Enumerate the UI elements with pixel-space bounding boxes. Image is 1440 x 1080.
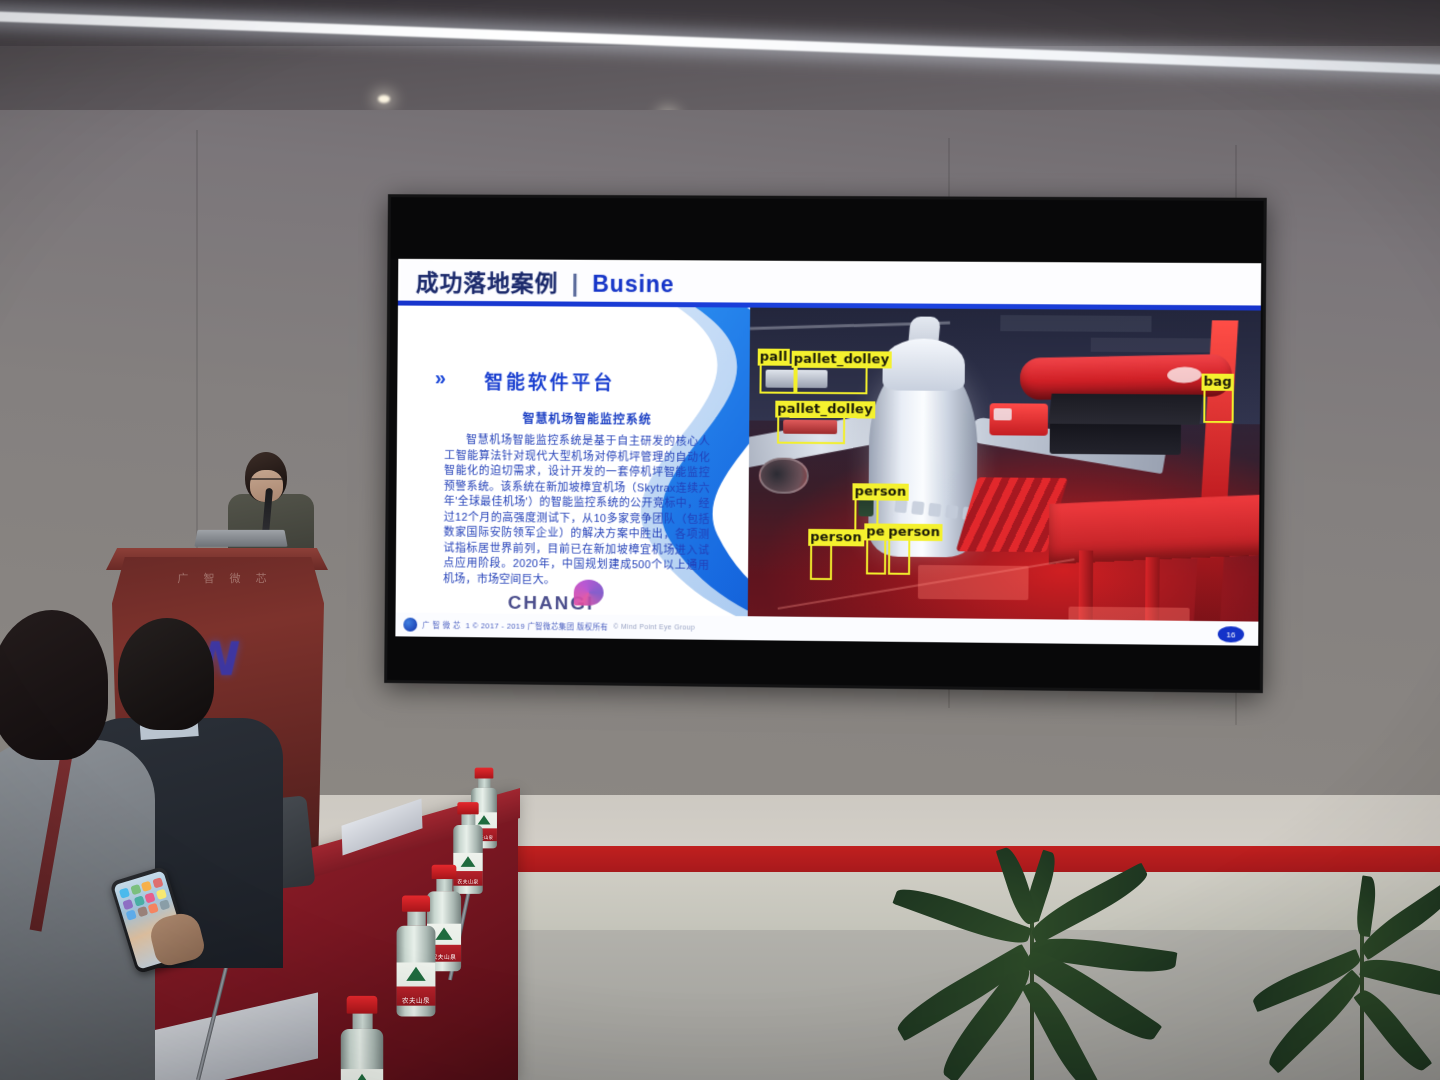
mountain-icon <box>351 1074 372 1080</box>
bottle-brand-cn: 农夫山泉 <box>397 995 436 1005</box>
footer-copyright-cn: 1 © 2017 - 2019 广智微芯集团 版权所有 <box>466 620 609 632</box>
surveillance-photo: pall pallet_dolley pallet_dolley bag per… <box>748 308 1261 646</box>
detection-box <box>759 364 797 394</box>
potted-palm <box>1250 900 1440 1080</box>
potted-palm <box>880 870 1200 1080</box>
bottle-neck <box>478 778 490 787</box>
bottle-cap <box>475 768 494 779</box>
bottle-cap <box>432 865 457 879</box>
attendee-front-left-head <box>0 610 108 760</box>
bottle-neck <box>436 879 452 891</box>
laptop[interactable] <box>194 530 287 547</box>
footer-copyright-en: © Mind Point Eye Group <box>613 623 695 631</box>
bottle-body: 农夫山泉 <box>397 926 436 1017</box>
slide-title-en: Busine <box>592 271 674 297</box>
changi-swoosh-icon <box>574 580 604 606</box>
detection-box <box>793 366 867 395</box>
detection-label: bag <box>1201 374 1233 391</box>
detection-label: pe <box>864 523 887 540</box>
aircraft-nose <box>882 338 965 391</box>
slide-body-text: 智慧机场智能监控系统是基于自主研发的核心人工智能算法针对现代大型机场对停机坪管理… <box>443 433 710 590</box>
detection-box <box>888 539 910 575</box>
bottle-cap <box>402 896 430 912</box>
apron-marking <box>1091 338 1212 353</box>
ground-equipment <box>918 565 1029 600</box>
sub-heading: 智慧机场智能监控系统 <box>478 409 696 428</box>
conference-room-scene: 成功落地案例 | Busine <box>0 0 1440 1080</box>
water-bottle[interactable]: 农夫山泉 <box>397 896 436 1017</box>
bottle-neck <box>407 912 425 926</box>
slide-title-cn: 成功落地案例 <box>416 270 559 297</box>
attendee-second-head <box>118 618 214 730</box>
jet-bridge-support <box>1048 394 1203 425</box>
detection-box <box>866 538 886 574</box>
ground-vehicle <box>1050 422 1181 455</box>
bottle-neck <box>461 814 475 825</box>
slide-body: » 智能软件平台 智慧机场智能监控系统 智慧机场智能监控系统是基于自主研发的核心… <box>395 306 1260 646</box>
chevron-double-right-icon: » <box>435 367 446 390</box>
mountain-icon <box>406 967 425 981</box>
mountain-icon <box>461 856 476 867</box>
detection-label: person <box>853 483 909 500</box>
bottle-body: 农夫山泉 <box>341 1029 383 1080</box>
slide-title-band: 成功落地案例 | Busine <box>400 261 1261 306</box>
aircraft-engine <box>759 457 809 493</box>
bottle-cap <box>347 996 378 1014</box>
glasses-icon <box>250 478 283 486</box>
detection-label: person <box>808 529 864 547</box>
detection-label: pallet_dolley <box>775 401 875 419</box>
led-video-wall[interactable]: 成功落地案例 | Busine <box>384 194 1267 693</box>
apron-marking <box>1000 315 1151 332</box>
detection-label: pall <box>758 349 790 366</box>
mountain-icon <box>435 928 452 940</box>
detection-box <box>777 416 845 445</box>
palm-frond <box>1353 984 1432 1076</box>
bottle-cap <box>457 802 478 814</box>
company-logo-icon <box>403 618 417 632</box>
bottle-label <box>341 1069 383 1080</box>
podium-brand-text: 广 智 微 芯 <box>170 570 280 586</box>
slide-title-divider: | <box>572 271 580 297</box>
slide-page-number: 16 <box>1218 626 1244 642</box>
section-heading: 智能软件平台 <box>484 368 615 396</box>
water-bottle[interactable]: 农夫山泉 <box>341 996 383 1080</box>
screen-letterbox-top <box>390 197 1263 263</box>
detection-label: person <box>886 524 942 542</box>
detection-label: pallet_dolley <box>792 351 892 369</box>
footer-company-cn: 广 智 微 芯 <box>422 619 461 630</box>
detection-box <box>810 544 832 580</box>
phone-app-icons <box>119 877 170 920</box>
presentation-slide: 成功落地案例 | Busine <box>395 259 1261 646</box>
bottle-neck <box>352 1014 372 1029</box>
detection-box <box>1203 389 1234 423</box>
service-truck <box>989 403 1048 436</box>
downlight-icon <box>378 95 390 103</box>
